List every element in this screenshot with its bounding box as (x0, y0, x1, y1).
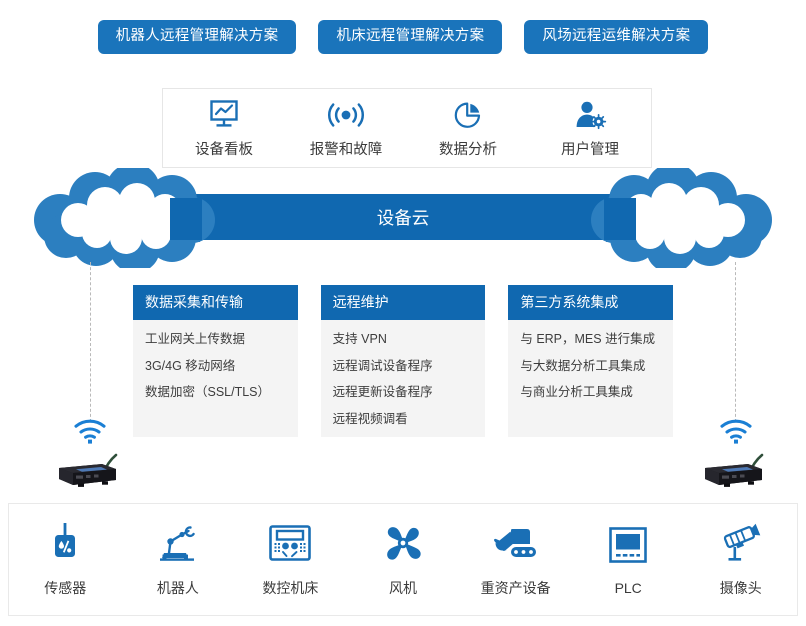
device-label-sensor: 传感器 (44, 578, 86, 598)
panel-item: 远程视频调看 (333, 412, 474, 428)
panel-item: 工业网关上传数据 (145, 332, 286, 348)
diagram-canvas: 机器人远程管理解决方案 机床远程管理解决方案 风场远程运维解决方案 设备看板 (0, 0, 806, 626)
device-cloud-band: 设备云 (0, 168, 806, 268)
device-item-robot[interactable]: 机器人 (122, 522, 235, 598)
right-gateway (690, 418, 782, 488)
panel-item: 远程更新设备程序 (333, 385, 474, 401)
capability-panel-row: 数据采集和传输 工业网关上传数据 3G/4G 移动网络 数据加密（SSL/TLS… (133, 285, 673, 437)
panel-body-third-party-integration: 与 ERP，MES 进行集成 与大数据分析工具集成 与商业分析工具集成 (508, 320, 673, 401)
cloud-band-label: 设备云 (377, 208, 430, 228)
industrial-gateway-icon (690, 452, 782, 488)
capability-panel-remote-maintenance: 远程维护 支持 VPN 远程调试设备程序 远程更新设备程序 远程视频调看 (321, 285, 486, 437)
panel-item: 远程调试设备程序 (333, 359, 474, 375)
panel-item: 3G/4G 移动网络 (145, 359, 286, 375)
connector-line-left (90, 262, 91, 422)
solution-button-machine-tool[interactable]: 机床远程管理解决方案 (318, 20, 502, 54)
industrial-gateway-icon (44, 452, 136, 488)
panel-item: 与商业分析工具集成 (520, 385, 661, 401)
device-item-fan[interactable]: 风机 (347, 522, 460, 598)
excavator-icon (492, 522, 540, 564)
wind-fan-icon (382, 522, 424, 564)
wifi-signal-icon (44, 418, 136, 446)
capability-panel-data-collection: 数据采集和传输 工业网关上传数据 3G/4G 移动网络 数据加密（SSL/TLS… (133, 285, 298, 437)
cloud-icon-left (34, 168, 215, 268)
solution-button-robot[interactable]: 机器人远程管理解决方案 (98, 20, 297, 54)
feature-label-dashboard: 设备看板 (195, 138, 253, 159)
panel-title-data-collection: 数据采集和传输 (133, 285, 298, 320)
cnc-machine-icon (268, 522, 312, 564)
feature-item-user-management[interactable]: 用户管理 (529, 97, 651, 159)
feature-card: 设备看板 报警和故障 数据分析 (162, 88, 652, 168)
cloud-icon-right (591, 168, 772, 268)
solution-button-row: 机器人远程管理解决方案 机床远程管理解决方案 风场远程运维解决方案 (0, 20, 806, 54)
connector-line-right (735, 262, 736, 422)
device-item-sensor[interactable]: 传感器 (9, 522, 122, 598)
device-label-heavy-asset: 重资产设备 (481, 578, 551, 598)
wifi-signal-icon (690, 418, 782, 446)
monitor-chart-icon (207, 97, 241, 131)
sensor-icon (48, 522, 82, 564)
device-label-robot: 机器人 (157, 578, 199, 598)
cctv-camera-icon (718, 522, 764, 564)
feature-label-analytics: 数据分析 (439, 138, 497, 159)
panel-item: 数据加密（SSL/TLS） (145, 385, 286, 401)
device-label-plc: PLC (615, 580, 642, 596)
feature-label-user-management: 用户管理 (561, 138, 619, 159)
left-gateway (44, 418, 136, 488)
device-label-cnc: 数控机床 (262, 578, 318, 598)
solution-button-wind-farm[interactable]: 风场远程运维解决方案 (524, 20, 708, 54)
capability-panel-third-party-integration: 第三方系统集成 与 ERP，MES 进行集成 与大数据分析工具集成 与商业分析工… (508, 285, 673, 437)
user-settings-icon (573, 97, 607, 131)
device-item-cnc[interactable]: 数控机床 (234, 522, 347, 598)
feature-item-dashboard[interactable]: 设备看板 (163, 97, 285, 159)
device-item-camera[interactable]: 摄像头 (684, 522, 797, 598)
feature-label-alarm: 报警和故障 (310, 138, 383, 159)
device-item-plc[interactable]: PLC (572, 524, 685, 596)
pie-chart-icon (452, 97, 484, 131)
panel-item: 与大数据分析工具集成 (520, 359, 661, 375)
device-label-camera: 摄像头 (720, 578, 762, 598)
robot-arm-icon (156, 522, 200, 564)
panel-body-data-collection: 工业网关上传数据 3G/4G 移动网络 数据加密（SSL/TLS） (133, 320, 298, 401)
device-item-heavy-asset[interactable]: 重资产设备 (459, 522, 572, 598)
device-type-card: 传感器 机器人 (8, 503, 798, 616)
device-label-fan: 风机 (389, 578, 417, 598)
panel-item: 与 ERP，MES 进行集成 (520, 332, 661, 348)
panel-title-third-party-integration: 第三方系统集成 (508, 285, 673, 320)
panel-title-remote-maintenance: 远程维护 (321, 285, 486, 320)
panel-item: 支持 VPN (333, 332, 474, 348)
feature-item-alarm[interactable]: 报警和故障 (285, 97, 407, 159)
feature-item-analytics[interactable]: 数据分析 (407, 97, 529, 159)
alarm-signal-icon (326, 97, 366, 131)
plc-screen-icon (608, 524, 648, 566)
panel-body-remote-maintenance: 支持 VPN 远程调试设备程序 远程更新设备程序 远程视频调看 (321, 320, 486, 428)
